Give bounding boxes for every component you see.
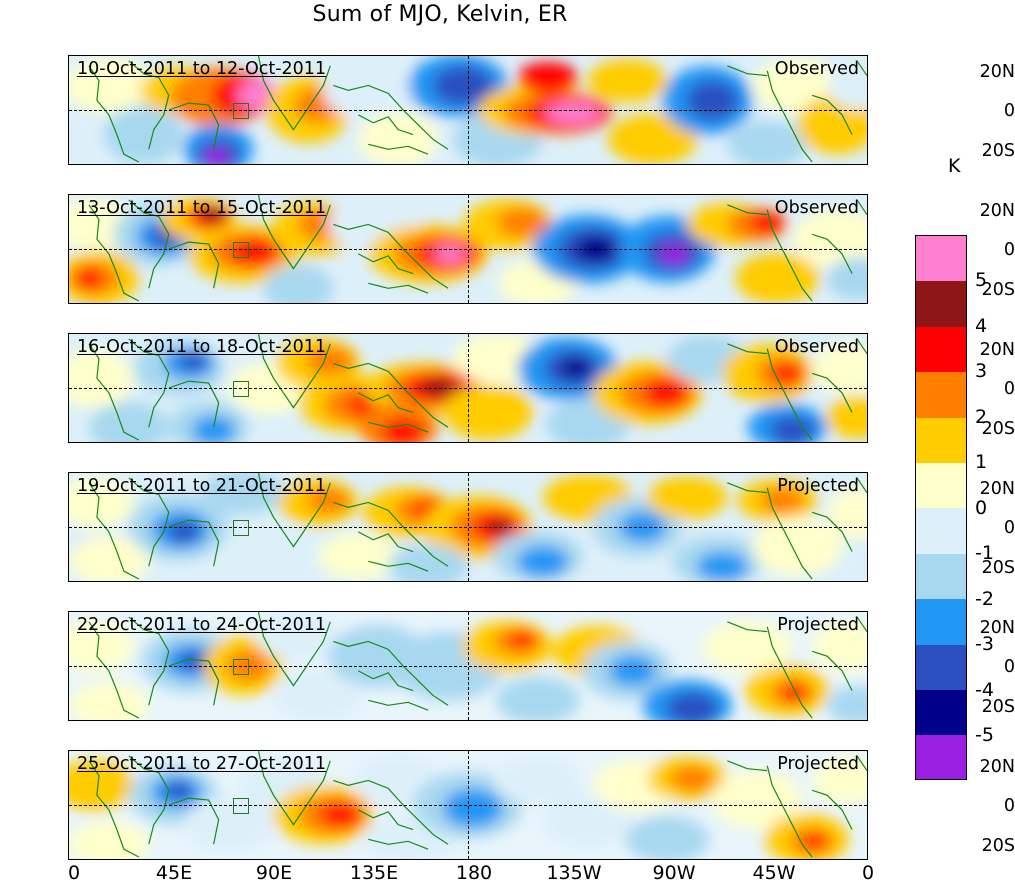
colorbar-tick-5: 5 — [975, 269, 987, 291]
dateline-4 — [468, 473, 469, 581]
colorbar-segment-1-2 — [916, 418, 966, 463]
colorbar-segment-0-1 — [916, 463, 966, 508]
colorbar-segment-neg3-neg2 — [916, 599, 966, 644]
xtick-label-0e: 0 — [68, 862, 80, 884]
map-panel-6: 25-Oct-2011 to 27-Oct-2011 Projected — [68, 750, 868, 860]
colorbar-tick-neg3: -3 — [975, 633, 994, 655]
region-box-6 — [233, 798, 249, 814]
xtick-label-135e: 135E — [350, 862, 398, 884]
xtick-label-180: 180 — [456, 862, 492, 884]
colorbar-tick-4: 4 — [975, 315, 987, 337]
xtick-label-135w: 135W — [546, 862, 601, 884]
panel-status-4: Projected — [777, 476, 859, 496]
ytick-label-20s-6: 20S — [953, 836, 1015, 856]
region-box-2 — [233, 242, 249, 258]
region-box-1 — [233, 103, 249, 119]
region-box-3 — [233, 381, 249, 397]
dateline-6 — [468, 751, 469, 859]
ytick-label-0-1: 0 — [953, 101, 1015, 121]
map-panel-3: 16-Oct-2011 to 18-Oct-2011 Observed — [68, 333, 868, 443]
region-box-5 — [233, 659, 249, 675]
panel-status-5: Projected — [777, 615, 859, 635]
colorbar-tick-1: 1 — [975, 451, 987, 473]
colorbar-tick-neg2: -2 — [975, 588, 994, 610]
colorbar-tick-2: 2 — [975, 406, 987, 428]
region-box-4 — [233, 520, 249, 536]
colorbar-segment-above-5 — [916, 236, 966, 281]
colorbar-tick-0: 0 — [975, 497, 987, 519]
panel-date-label-4: 19-Oct-2011 to 21-Oct-2011 — [77, 476, 326, 496]
xtick-label-45e: 45E — [156, 862, 192, 884]
map-panel-4: 19-Oct-2011 to 21-Oct-2011 Projected — [68, 472, 868, 582]
dateline-5 — [468, 612, 469, 720]
panel-date-label-3: 16-Oct-2011 to 18-Oct-2011 — [77, 337, 326, 357]
map-panel-2: 13-Oct-2011 to 15-Oct-2011 Observed — [68, 194, 868, 304]
colorbar-segment-4-5 — [916, 281, 966, 326]
map-panel-1: 10-Oct-2011 to 12-Oct-2011 Observed — [68, 55, 868, 165]
dateline-2 — [468, 195, 469, 303]
xtick-label-90w: 90W — [653, 862, 696, 884]
panel-status-2: Observed — [775, 198, 859, 218]
colorbar-segment-2-3 — [916, 372, 966, 417]
colorbar-segment-neg5-neg4 — [916, 690, 966, 735]
colorbar-segment-neg2-neg1 — [916, 554, 966, 599]
page-title: Sum of MJO, Kelvin, ER — [0, 2, 880, 27]
colorbar-unit-label: K — [948, 155, 960, 177]
map-panel-5: 22-Oct-2011 to 24-Oct-2011 Projected — [68, 611, 868, 721]
colorbar-tick-neg5: -5 — [975, 724, 994, 746]
colorbar-tick-neg4: -4 — [975, 679, 994, 701]
panel-date-label-2: 13-Oct-2011 to 15-Oct-2011 — [77, 198, 326, 218]
colorbar-tick-3: 3 — [975, 360, 987, 382]
colorbar-segment-below-neg5 — [916, 735, 966, 780]
panel-date-label-1: 10-Oct-2011 to 12-Oct-2011 — [77, 59, 326, 79]
colorbar — [915, 235, 967, 780]
panel-status-1: Observed — [775, 59, 859, 79]
panel-status-3: Observed — [775, 337, 859, 357]
panel-date-label-5: 22-Oct-2011 to 24-Oct-2011 — [77, 615, 326, 635]
colorbar-segment-neg1-0 — [916, 508, 966, 553]
colorbar-segment-neg4-neg3 — [916, 645, 966, 690]
dateline-1 — [468, 56, 469, 164]
xtick-label-0w: 0 — [862, 862, 874, 884]
panel-status-6: Projected — [777, 754, 859, 774]
colorbar-tick-neg1: -1 — [975, 542, 994, 564]
ytick-label-0-6: 0 — [953, 796, 1015, 816]
x-axis: 0 45E 90E 135E 180 135W 90W 45W 0 — [0, 862, 1015, 888]
xtick-label-45w: 45W — [753, 862, 796, 884]
ytick-label-20s-1: 20S — [953, 141, 1015, 161]
colorbar-segment-3-4 — [916, 327, 966, 372]
panel-date-label-6: 25-Oct-2011 to 27-Oct-2011 — [77, 754, 326, 774]
xtick-label-90e: 90E — [256, 862, 292, 884]
ytick-label-20n-1: 20N — [953, 62, 1015, 82]
ytick-label-20n-2: 20N — [953, 201, 1015, 221]
dateline-3 — [468, 334, 469, 442]
